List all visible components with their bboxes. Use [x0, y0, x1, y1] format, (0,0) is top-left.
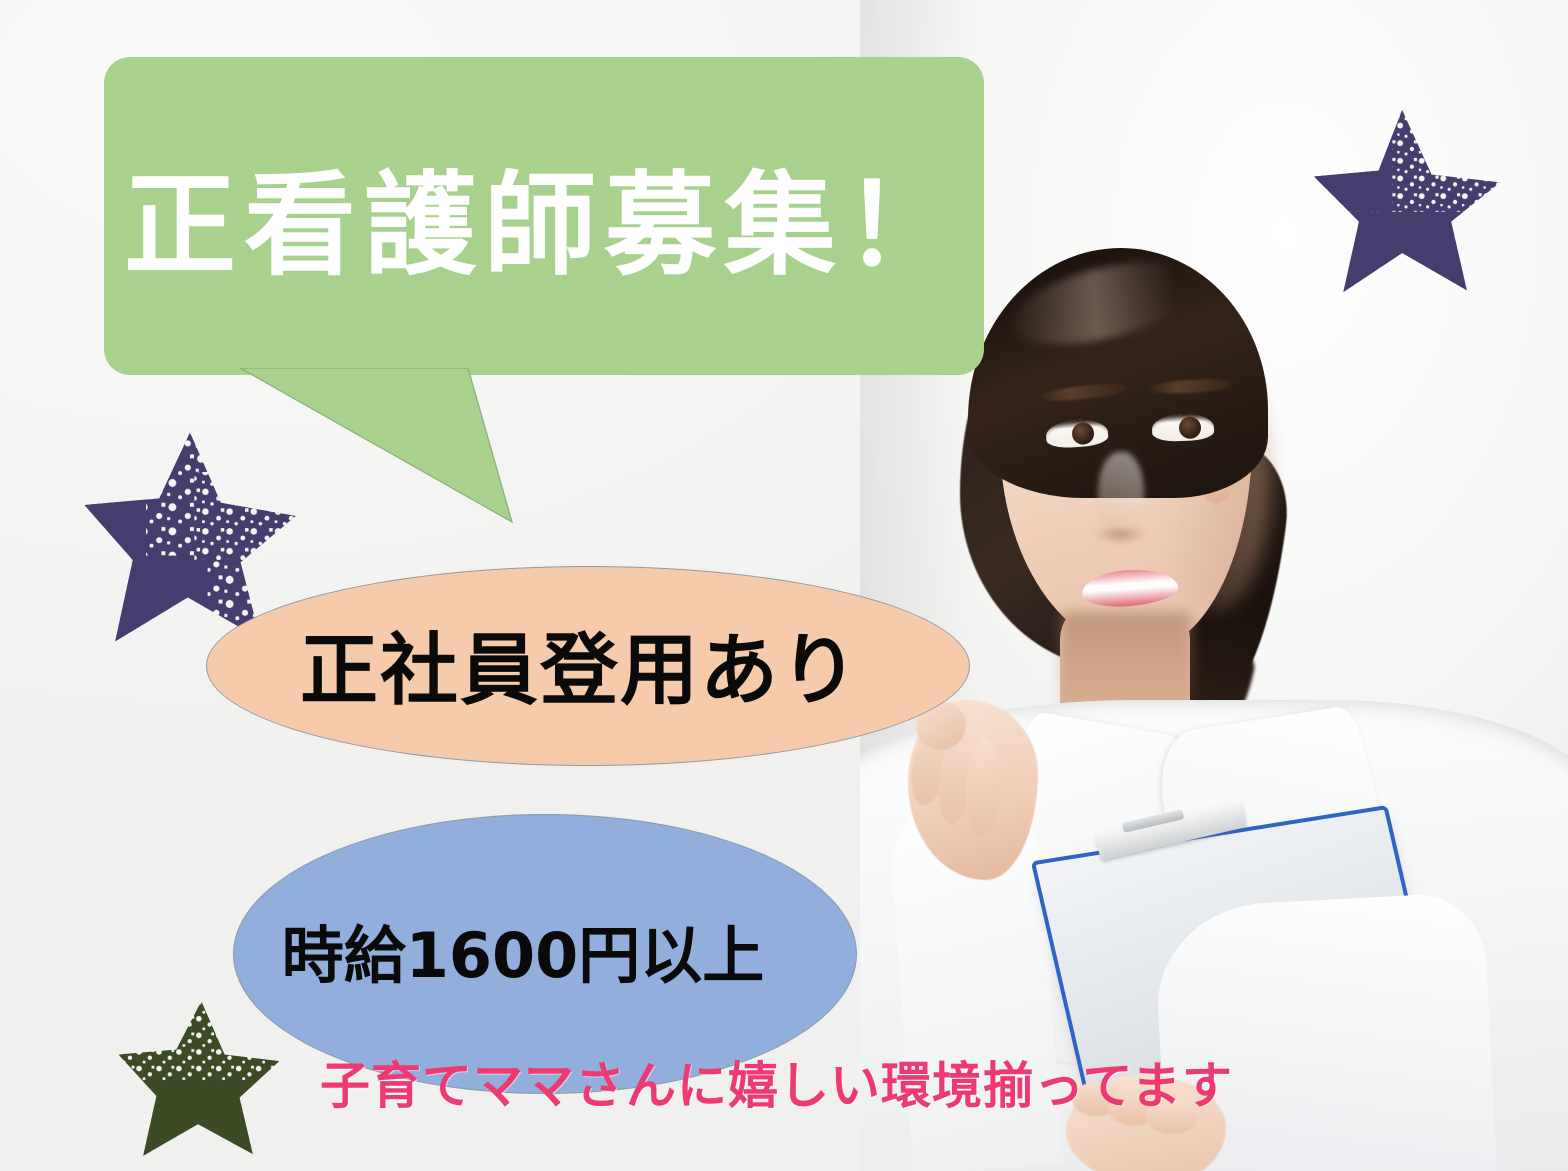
tagline-text: 子育てママさんに嬉しい環境揃ってます	[320, 1046, 1233, 1118]
star-bottom-left-icon	[110, 998, 286, 1164]
headline-speech-bubble: 正看護師募集！	[104, 57, 984, 375]
benefit-primary-text: 正社員登用あり	[300, 608, 860, 720]
headline-text: 正看護師募集！	[104, 57, 984, 375]
iris-right	[1179, 416, 1202, 439]
benefit-badge-orange: 正社員登用あり	[206, 566, 970, 766]
star-top-right-icon	[1300, 104, 1516, 300]
speech-bubble-tail	[240, 368, 520, 528]
eye-right	[1152, 413, 1215, 442]
benefit-wage-text: 時給1600円以上	[282, 905, 765, 995]
nose-shadow	[1092, 528, 1148, 544]
iris-left	[1071, 422, 1094, 445]
recruitment-poster: 正看護師募集！ 正社員登用あり 時給1600円以上 子育てママさんに嬉しい環境揃…	[0, 0, 1568, 1171]
